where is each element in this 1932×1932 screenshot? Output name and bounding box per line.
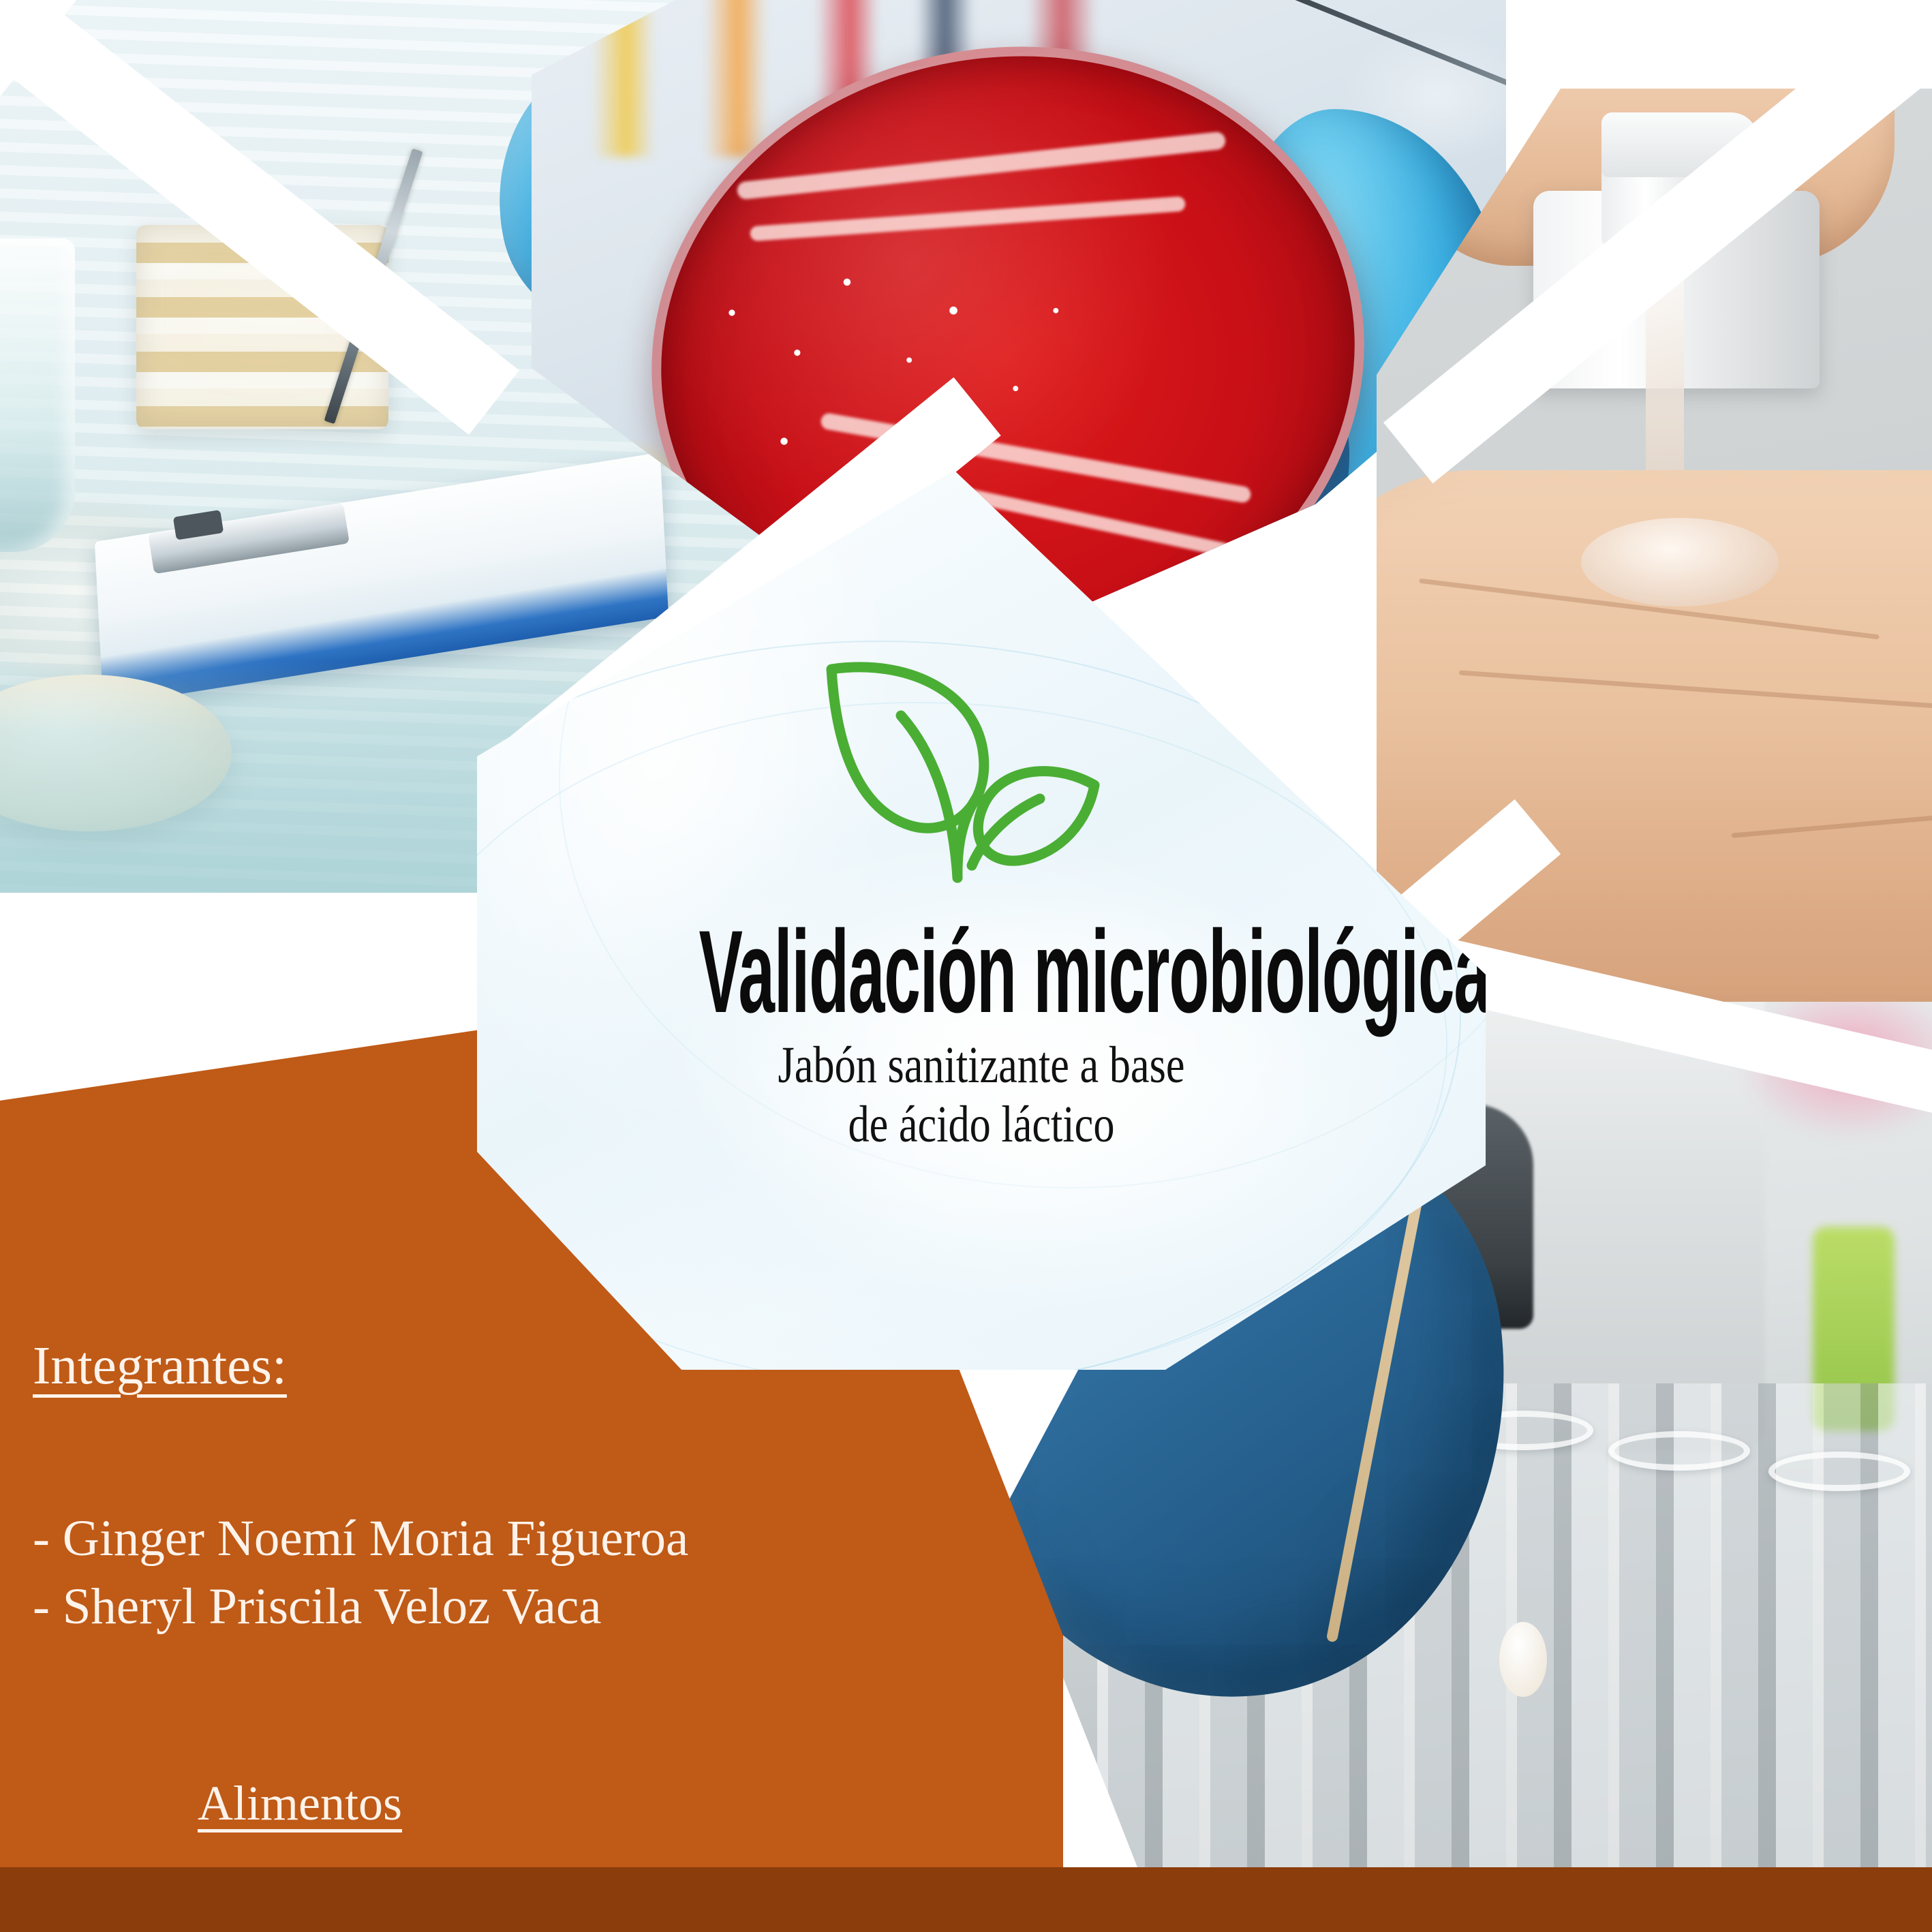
page-subtitle-line-1: Jabón sanitizante a base: [568, 1036, 1395, 1095]
test-tube-rim: [1768, 1452, 1910, 1491]
page-title: Validación microbiológica: [699, 913, 1264, 1030]
members-label: Integrantes:: [33, 1339, 287, 1393]
glass-flask: [0, 239, 75, 552]
test-tube-rim: [1608, 1431, 1750, 1471]
leaf-sprout-logo: [811, 641, 1104, 893]
footer-strip: [0, 1867, 1932, 1932]
member-name-0: - Ginger Noemí Moria Figueroa: [33, 1513, 688, 1564]
member-name-1: - Sheryl Priscila Veloz Vaca: [33, 1581, 602, 1632]
program-name: Alimentos: [0, 1779, 600, 1828]
inoculation-loop: [1211, 0, 1506, 99]
soap-blob-in-palm: [1581, 518, 1779, 607]
cover-page: Integrantes: - Ginger Noemí Moria Figuer…: [0, 0, 1932, 1932]
page-subtitle-line-2: de ácido láctico: [568, 1095, 1395, 1154]
cotton-swab-tip: [1499, 1622, 1547, 1697]
page-subtitle: Jabón sanitizante a base de ácido láctic…: [568, 1036, 1395, 1154]
